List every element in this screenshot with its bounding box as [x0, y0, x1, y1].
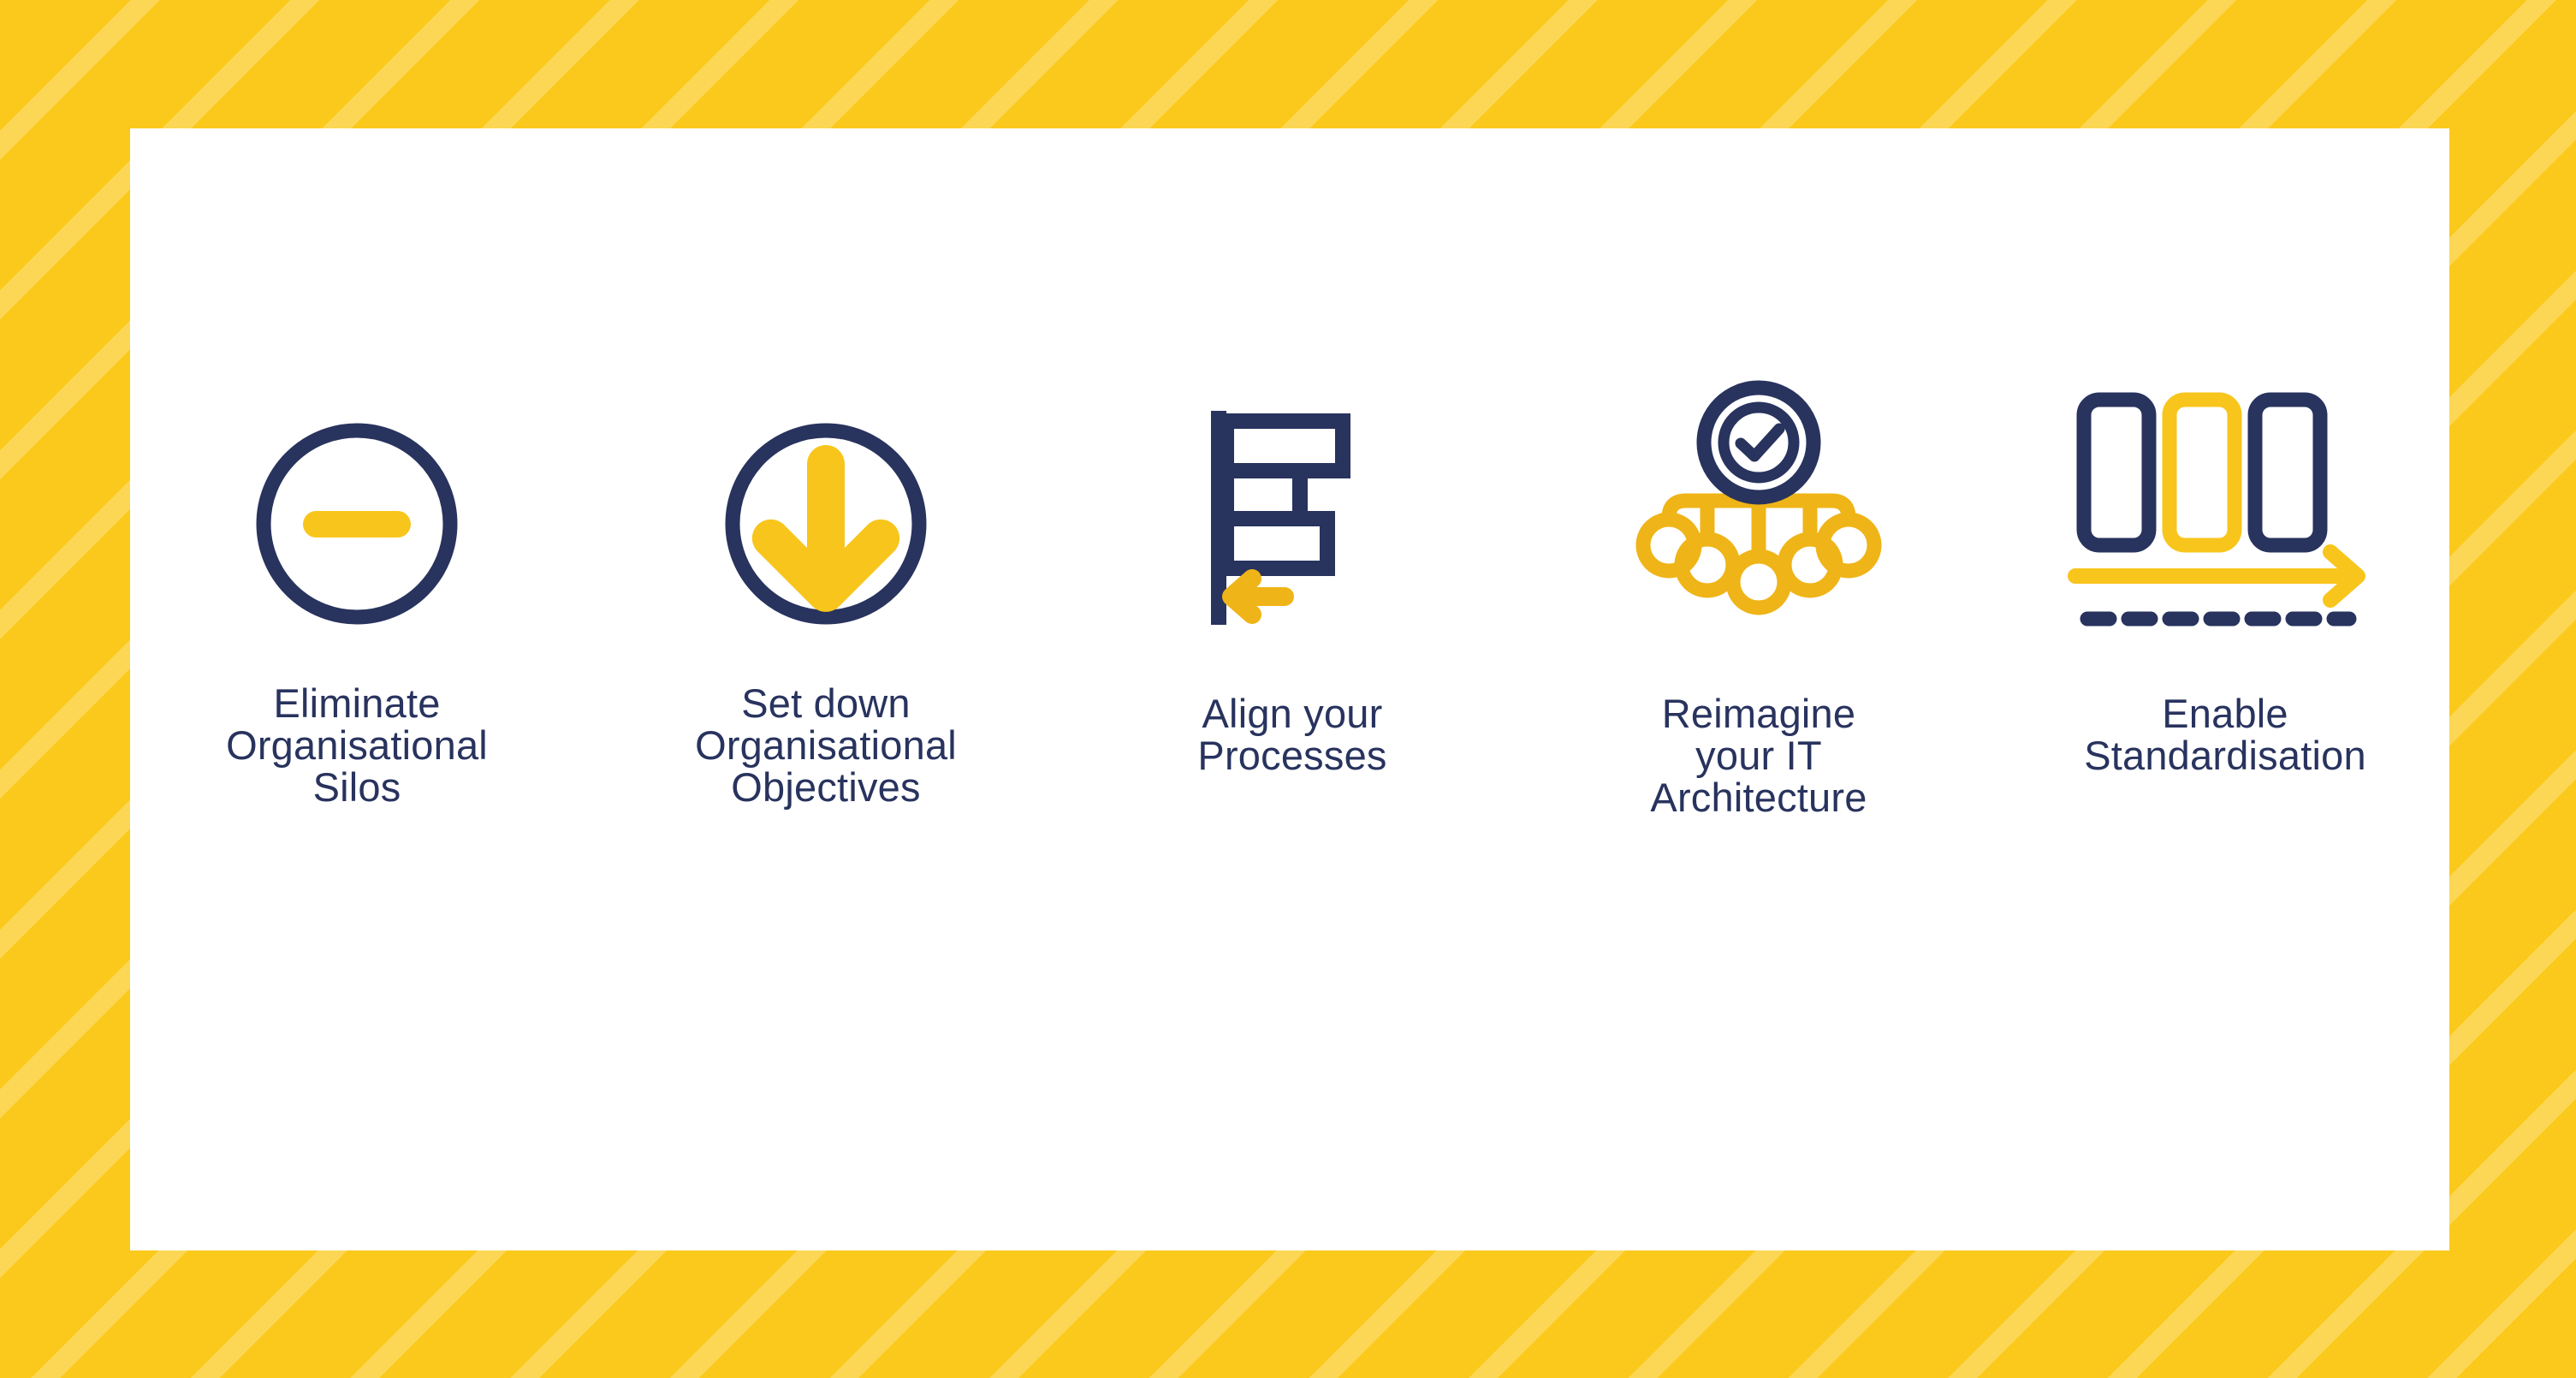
bar-chart-flag-icon — [1113, 394, 1472, 625]
step-item-1: Eliminate Organisational Silos — [177, 128, 537, 1250]
step-caption-5: Enable Standardisation — [2045, 693, 2405, 777]
content-card: Eliminate Organisational Silos Set down … — [130, 128, 2449, 1250]
standardisation-blocks-icon — [2045, 389, 2405, 625]
step-caption-4-line-3: Architecture — [1579, 777, 1938, 819]
step-caption-3-line-1: Align your — [1113, 693, 1472, 735]
minus-circle-icon — [177, 411, 537, 625]
step-caption-2: Set down Organisational Objectives — [646, 683, 1006, 809]
step-caption-4-line-1: Reimagine — [1579, 693, 1938, 735]
step-item-5: Enable Standardisation — [2045, 128, 2405, 1250]
slide-canvas: Eliminate Organisational Silos Set down … — [0, 0, 2576, 1378]
step-caption-1-line-2: Organisational — [177, 725, 537, 767]
step-item-4: Reimagine your IT Architecture — [1579, 128, 1938, 1250]
step-caption-1-line-1: Eliminate — [177, 683, 537, 725]
down-arrow-circle-icon — [646, 411, 1006, 625]
steps-row: Eliminate Organisational Silos Set down … — [130, 128, 2449, 1250]
step-caption-4: Reimagine your IT Architecture — [1579, 693, 1938, 819]
step-caption-3: Align your Processes — [1113, 693, 1472, 777]
step-caption-2-line-3: Objectives — [646, 767, 1006, 809]
step-caption-2-line-2: Organisational — [646, 725, 1006, 767]
step-caption-5-line-1: Enable — [2045, 693, 2405, 735]
step-caption-1-line-3: Silos — [177, 767, 537, 809]
step-caption-2-line-1: Set down — [646, 683, 1006, 725]
step-caption-5-line-2: Standardisation — [2045, 735, 2405, 777]
step-caption-1: Eliminate Organisational Silos — [177, 683, 537, 809]
step-item-3: Align your Processes — [1113, 128, 1472, 1250]
step-item-2: Set down Organisational Objectives — [646, 128, 1006, 1250]
check-circle-network-icon — [1579, 381, 1938, 625]
step-caption-3-line-2: Processes — [1113, 735, 1472, 777]
step-caption-4-line-2: your IT — [1579, 735, 1938, 777]
